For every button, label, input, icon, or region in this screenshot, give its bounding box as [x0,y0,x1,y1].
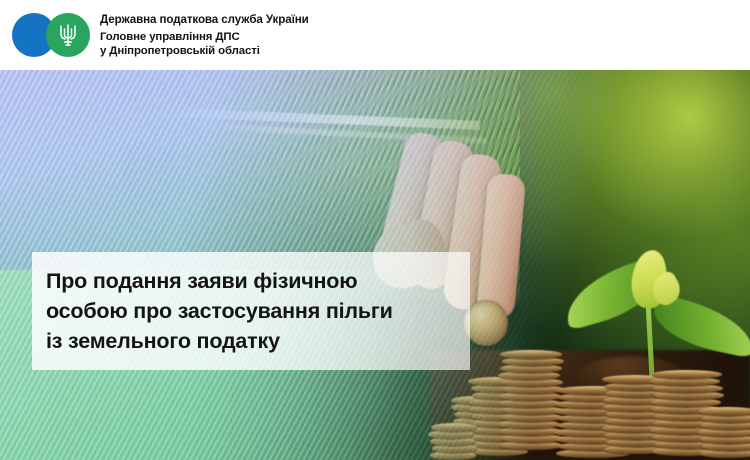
organization-subtitle-line1: Головне управління ДПС [100,30,309,44]
site-header: Державна податкова служба України Головн… [0,0,750,70]
organization-title: Державна податкова служба України [100,12,309,27]
ukrainian-trident-icon [46,13,90,57]
tax-service-logo[interactable] [12,11,90,59]
banner-title-line-2: особою про застосування пільги [46,296,470,326]
banner-title-line-3: із земельного податку [46,326,470,356]
organization-subtitle-line2: у Дніпропетровській області [100,44,309,58]
organization-subtitle: Головне управління ДПС у Дніпропетровськ… [100,30,309,58]
hero-banner: Про подання заяви фізичною особою про за… [0,70,750,460]
banner-title-line-1: Про подання заяви фізичною [46,266,470,296]
banner-title-card: Про подання заяви фізичною особою про за… [32,252,470,370]
banner-page: Державна податкова служба України Головн… [0,0,750,460]
header-text-block: Державна податкова служба України Головн… [100,12,309,58]
